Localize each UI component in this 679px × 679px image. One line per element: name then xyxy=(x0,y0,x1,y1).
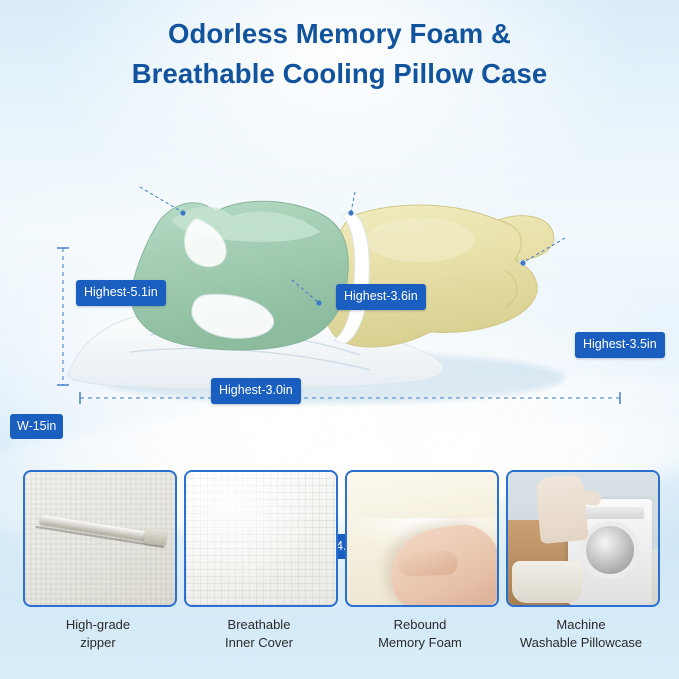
feature-card-washable: Machine Washable Pillowcase xyxy=(506,470,656,651)
feature-caption-washable: Machine Washable Pillowcase xyxy=(506,616,656,651)
caption-line-2: zipper xyxy=(80,635,115,650)
headline-line-2: Breathable Cooling Pillow Case xyxy=(0,54,679,94)
caption-line-1: Rebound xyxy=(394,617,447,632)
caption-line-2: Washable Pillowcase xyxy=(520,635,642,650)
feature-card-inner-cover: Breathable Inner Cover xyxy=(184,470,334,651)
caption-line-2: Memory Foam xyxy=(378,635,462,650)
zipper-photo xyxy=(23,470,177,607)
laundry-basket xyxy=(512,561,582,603)
callout-highest-3-5: Highest-3.5in xyxy=(575,332,665,358)
headline-line-1: Odorless Memory Foam & xyxy=(168,18,511,49)
caption-line-1: Machine xyxy=(556,617,605,632)
caption-line-1: Breathable xyxy=(228,617,291,632)
inner-cover-photo xyxy=(184,470,338,607)
feature-card-memory-foam: Rebound Memory Foam xyxy=(345,470,495,651)
memory-foam-photo xyxy=(345,470,499,607)
callout-highest-3-0: Highest-3.0in xyxy=(211,378,301,404)
washer-door-icon xyxy=(581,521,639,579)
feature-caption-inner-cover: Breathable Inner Cover xyxy=(184,616,334,651)
dimension-width-label: W-15in xyxy=(10,414,63,439)
feature-card-zipper: High-grade zipper xyxy=(23,470,173,651)
callout-highest-5-1: Highest-5.1in xyxy=(76,280,166,306)
feature-caption-memory-foam: Rebound Memory Foam xyxy=(345,616,495,651)
washing-machine-photo xyxy=(506,470,660,607)
person-figure xyxy=(535,474,589,544)
caption-line-2: Inner Cover xyxy=(225,635,293,650)
page-title: Odorless Memory Foam & Breathable Coolin… xyxy=(0,14,679,94)
product-infographic: Odorless Memory Foam & Breathable Coolin… xyxy=(0,0,679,679)
feature-cards: High-grade zipper Breathable Inner Cover… xyxy=(0,470,679,651)
callout-highest-3-6: Highest-3.6in xyxy=(336,284,426,310)
feature-caption-zipper: High-grade zipper xyxy=(23,616,173,651)
product-illustration: Highest-5.1in Highest-3.6in Highest-3.5i… xyxy=(0,120,679,450)
caption-line-1: High-grade xyxy=(66,617,130,632)
